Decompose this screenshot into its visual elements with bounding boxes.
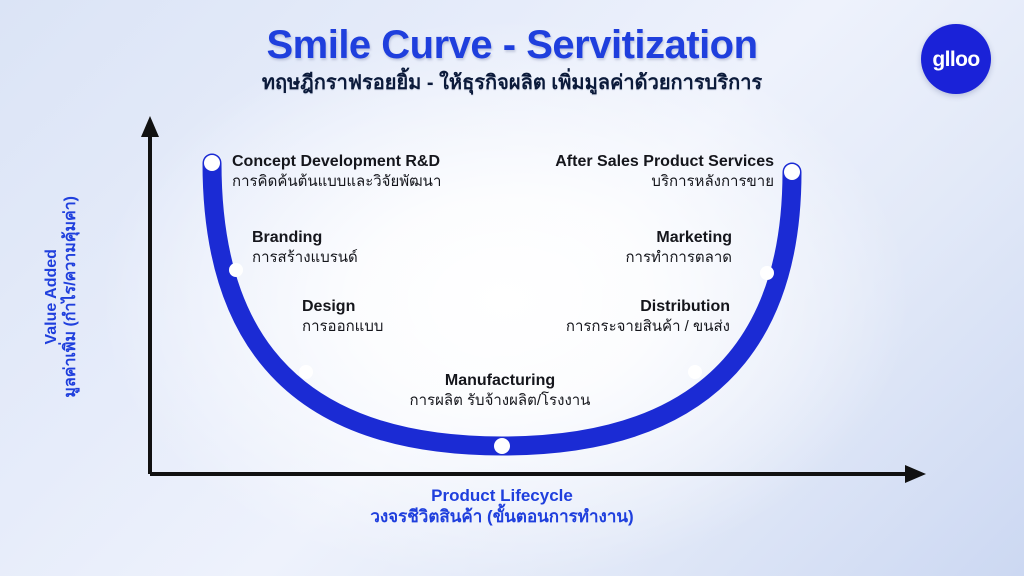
stage-title-th: การทำการตลาด	[625, 248, 732, 268]
stage-title-th: การผลิต รับจ้างผลิต/โรงงาน	[380, 391, 620, 411]
stage-title-th: การสร้างแบรนด์	[252, 248, 358, 268]
stage-label-marketing: Marketing การทำการตลาด	[625, 228, 732, 268]
stage-title-en: Manufacturing	[380, 371, 620, 391]
curve-point-marketing	[760, 266, 774, 280]
curve-point-distribution	[688, 365, 702, 379]
curve-point-concept-development-rd	[204, 155, 220, 171]
stage-title-en: Design	[302, 297, 383, 317]
stage-label-after-sales-product-services: After Sales Product Services บริการหลังก…	[555, 152, 774, 192]
stage-label-manufacturing: Manufacturing การผลิต รับจ้างผลิต/โรงงาน	[380, 371, 620, 411]
stage-title-th: การคิดค้นต้นแบบและวิจัยพัฒนา	[232, 172, 441, 192]
stage-label-distribution: Distribution การกระจายสินค้า / ขนส่ง	[566, 297, 730, 337]
stage-title-en: Marketing	[625, 228, 732, 248]
stage-label-design: Design การออกแบบ	[302, 297, 383, 337]
curve-point-design	[299, 365, 313, 379]
stage-title-th: การออกแบบ	[302, 317, 383, 337]
slide-canvas: Smile Curve - Servitization ทฤษฎีกราฟรอย…	[0, 0, 1024, 576]
stage-title-en: Concept Development R&D	[232, 152, 441, 172]
stage-label-branding: Branding การสร้างแบรนด์	[252, 228, 358, 268]
curve-point-branding	[229, 263, 243, 277]
stage-title-en: Distribution	[566, 297, 730, 317]
curve-point-manufacturing	[494, 438, 510, 454]
stage-title-th: การกระจายสินค้า / ขนส่ง	[566, 317, 730, 337]
stage-title-en: Branding	[252, 228, 358, 248]
stage-label-concept-development-rd: Concept Development R&D การคิดค้นต้นแบบแ…	[232, 152, 441, 192]
stage-title-en: After Sales Product Services	[555, 152, 774, 172]
curve-point-after-sales-product-services	[784, 164, 800, 180]
smile-curve	[0, 0, 1024, 576]
stage-title-th: บริการหลังการขาย	[555, 172, 774, 192]
